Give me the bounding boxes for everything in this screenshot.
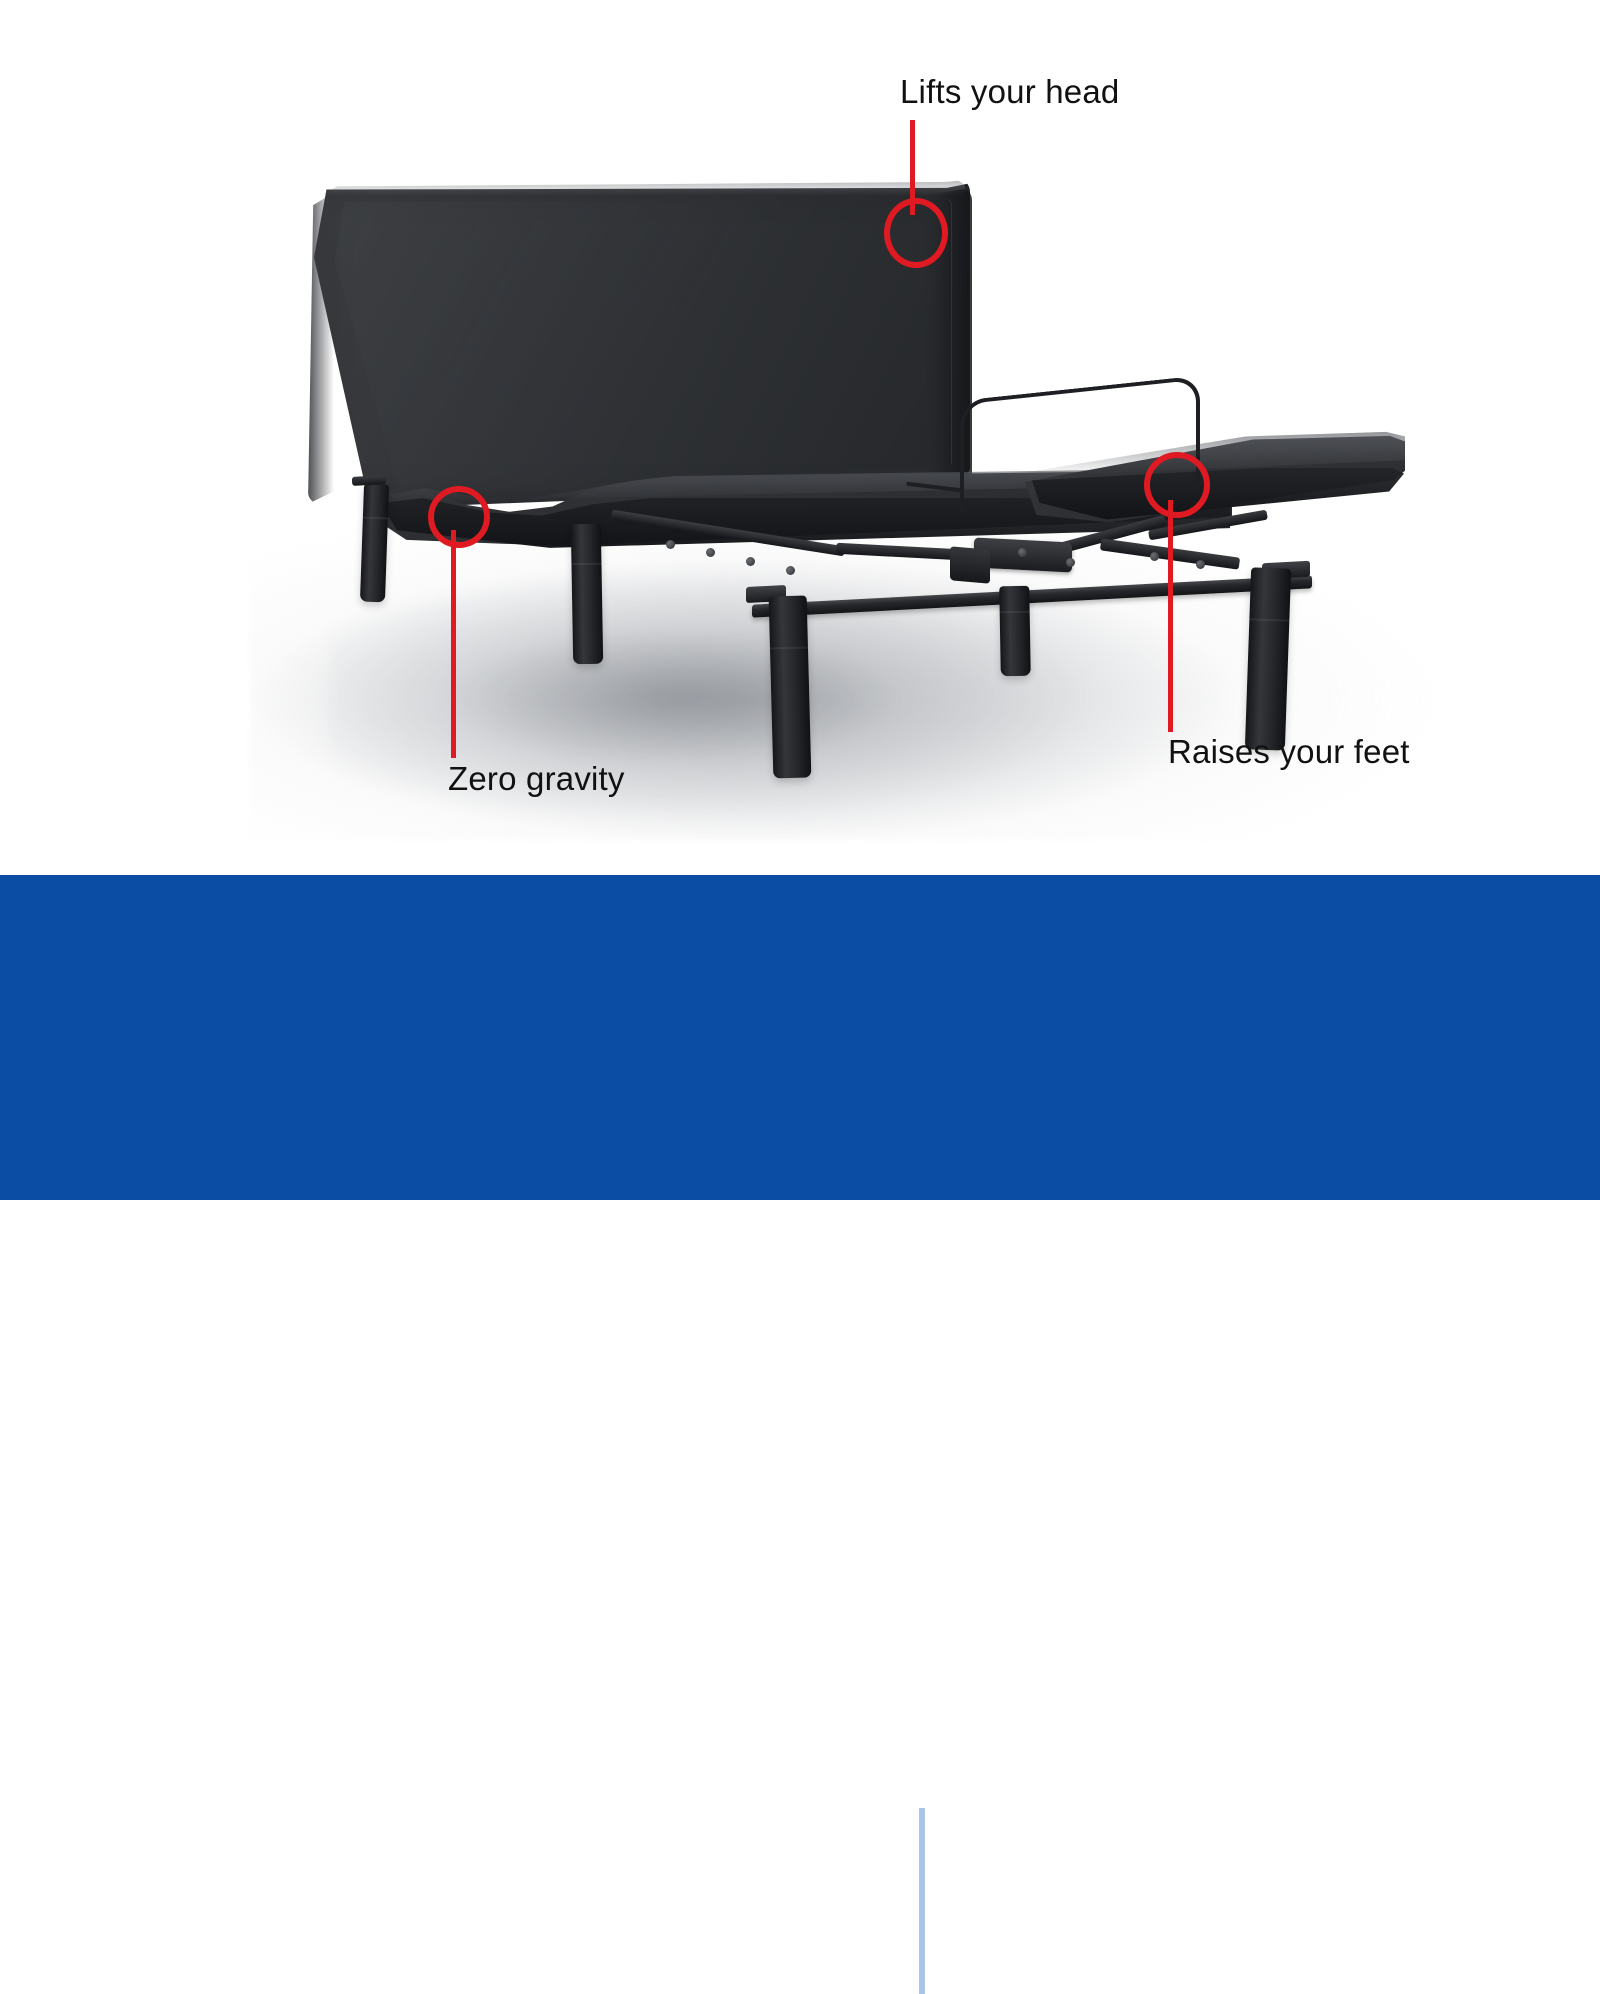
frame-bolt (1066, 558, 1075, 567)
lift-motor-bracket (950, 546, 990, 583)
callout-leader-line-zero-gravity (451, 530, 456, 758)
banner-subcopy: Pair your mattress with an adjustable ba… (1015, 1780, 1435, 1985)
frame-bolt (1196, 560, 1205, 569)
bed-head-panel-seam (332, 196, 952, 494)
frame-bolt (1018, 548, 1027, 557)
promo-banner: COMPLETE YOUR SLEEP SYSTEM WITH A POWER … (0, 875, 1600, 1200)
callout-ring-zero-gravity (428, 486, 490, 548)
hero-product-image: Lifts your head Zero gravity Raises your… (0, 0, 1600, 875)
head-pivot-bracket (352, 475, 386, 486)
bed-leg-front-left (769, 596, 812, 779)
bed-leg-front-right (1245, 567, 1291, 750)
bed-head-left-edge (308, 186, 334, 504)
subcopy-line-1: Pair your mattress (1015, 1780, 1435, 1831)
bed-leg-rear-center (999, 586, 1031, 677)
frame-bolt (786, 566, 795, 575)
callout-ring-head (884, 198, 948, 268)
base-frame-rail (752, 575, 1312, 617)
banner-vertical-divider (919, 1808, 925, 1994)
callout-label-lifts-your-head: Lifts your head (900, 73, 1119, 111)
banner-headline: COMPLETE YOUR SLEEP SYSTEM WITH A POWER … (178, 1780, 878, 1949)
subcopy-line-4: all-night support. (1015, 1934, 1435, 1985)
frame-bolt (1150, 552, 1159, 561)
callout-label-raises-your-feet: Raises your feet (1168, 733, 1410, 771)
headline-line-1: COMPLETE YOUR (178, 1780, 878, 1836)
callout-label-zero-gravity: Zero gravity (448, 760, 625, 798)
bed-leg-head-left (360, 484, 389, 603)
promo-page: Lifts your head Zero gravity Raises your… (0, 0, 1600, 1200)
headline-line-3: A POWER BASE. (178, 1893, 878, 1949)
frame-bolt (706, 548, 715, 557)
callout-leader-line-feet (1168, 500, 1173, 732)
subcopy-line-2: with an adjustable (1015, 1831, 1435, 1882)
callout-ring-raises-your-feet (1144, 452, 1210, 518)
subcopy-line-3: base for maximum (1015, 1882, 1435, 1933)
bed-head-top-highlight (318, 180, 966, 196)
frame-bolt (746, 557, 755, 566)
headline-line-2: SLEEP SYSTEM WITH (178, 1836, 878, 1892)
frame-bolt (666, 540, 675, 549)
